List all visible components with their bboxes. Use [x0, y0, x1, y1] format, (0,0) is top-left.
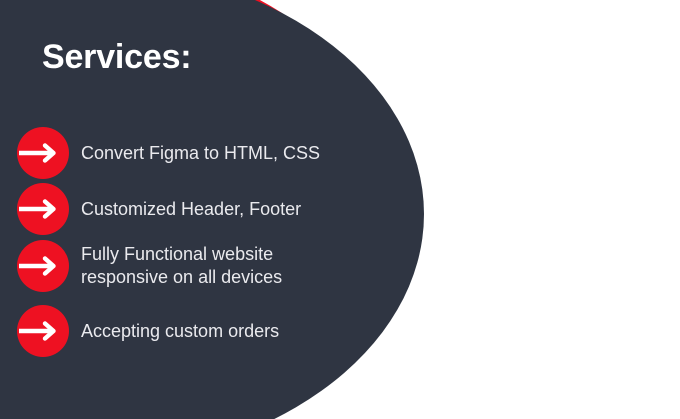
list-item-label: Fully Functional website responsive on a…: [81, 243, 282, 289]
list-item[interactable]: Fully Functional website responsive on a…: [17, 240, 282, 292]
arrow-right-icon: [17, 183, 69, 235]
list-item-label: Customized Header, Footer: [81, 198, 301, 221]
arrow-right-icon: [17, 305, 69, 357]
list-item[interactable]: Customized Header, Footer: [17, 183, 301, 235]
list-item-label: Accepting custom orders: [81, 320, 279, 343]
list-item-label: Convert Figma to HTML, CSS: [81, 142, 320, 165]
services-slide: Services: Convert Figma to HTML, CSS: [0, 0, 680, 419]
arrow-right-icon: [17, 127, 69, 179]
list-item[interactable]: Convert Figma to HTML, CSS: [17, 127, 320, 179]
list-item[interactable]: Accepting custom orders: [17, 305, 279, 357]
services-list: Convert Figma to HTML, CSS Customized He…: [0, 0, 440, 419]
slide-content: Services: Convert Figma to HTML, CSS: [0, 0, 440, 419]
arrow-right-icon: [17, 240, 69, 292]
